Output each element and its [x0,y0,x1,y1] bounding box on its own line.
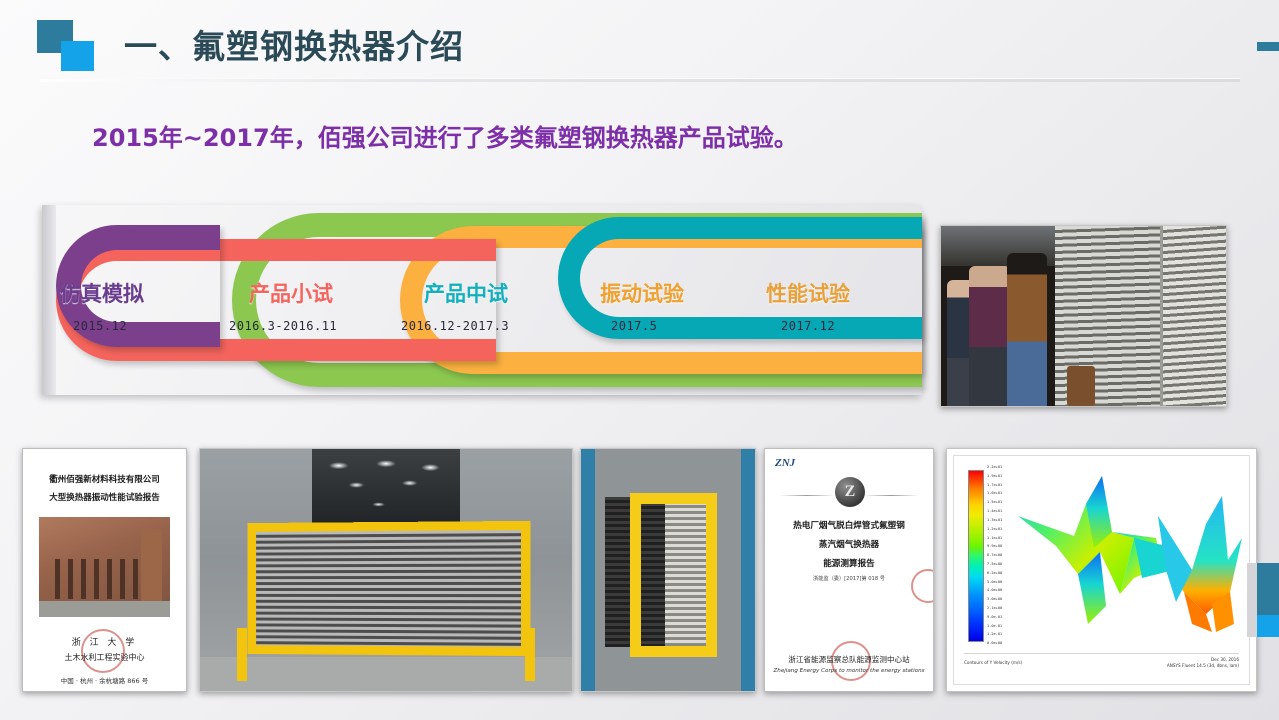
lab-rig-leg-right [525,628,535,681]
page-title: 一、氟塑钢换热器介绍 [124,20,464,68]
timeline-stage-label-2: 产品小试 [249,278,333,308]
vibration-test-report-cover: 衢州佰强新材料科技有限公司 大型换热器振动性能试验报告 浙 江 大 学 土木水利… [22,448,187,692]
header-right-tick-icon [1257,42,1279,51]
edge-decoration-blue [1257,615,1279,637]
cover1-arches [47,559,144,599]
slide: 一、氟塑钢换热器介绍 2015年~2017年，佰强公司进行了多类氟塑钢换热器产品… [0,0,1279,720]
cover1-org2: 土木水利工程实验中心 [23,652,186,663]
header-divider [40,78,1240,82]
cover1-address: 中国 · 杭州 · 余杭塘路 866 号 [23,675,186,685]
cover1-line1: 衢州佰强新材料科技有限公司 [23,473,186,485]
timeline-stage-label-1: 仿真模拟 [60,278,144,308]
cfd-caption-meta: Dec 30, 2016 ANSYS Fluent 14.5 (3d, dbns… [1167,657,1239,670]
photo-heat-exchanger-second-panel [1160,225,1226,407]
znj-brand-logo: ZNJ [775,457,795,469]
timeline-stage-label-4: 振动试验 [600,278,684,308]
edge-decoration-gray [1247,563,1257,637]
header-square-bright-icon [61,41,94,71]
cover1-building-photo [39,517,170,617]
heat-exchanger-test-rig-side-photo [580,448,756,692]
znj-medal-icon: Z [835,477,865,507]
photo-person-3 [1007,253,1047,406]
cover2-line1: 热电厂烟气脱白焊管式氟塑钢 [765,519,933,531]
cover1-line2: 大型换热器振动性能试验报告 [23,491,186,503]
cfd-caption: Contours of Y Velocity (m/s) Dec 30, 201… [964,653,1239,678]
photo-person-2 [969,266,1011,406]
heat-exchanger-test-rig-lab-photo [199,448,573,692]
side-yellow-frame [630,493,717,658]
cover1-road [39,601,170,617]
cfd-plot-area: 2.2e+01 1.9e+01 1.7e+01 1.6e+01 1.5e+01 … [953,455,1250,685]
cover2-footer-en: Zhejiang Energy Corps to monitor the ene… [765,668,933,674]
cover2-footer-cn: 浙江省能源监察总队能源监测中心站 [765,654,933,665]
cover2-line2: 蒸汽烟气换热器 [765,538,933,550]
cover2-flourish-left [779,495,835,496]
photo-barrel [1067,366,1095,406]
cover1-tower [141,529,162,609]
cfd-caption-title: Contours of Y Velocity (m/s) [964,660,1022,665]
cfd-colorbar [968,470,984,642]
heat-exchanger-inspection-photo [940,225,1227,407]
cfd-velocity-contour-plot: 2.2e+01 1.9e+01 1.7e+01 1.6e+01 1.5e+01 … [946,448,1257,692]
cfd-contour-shapes [1016,474,1246,654]
subtitle-text: 2015年~2017年，佰强公司进行了多类氟塑钢换热器产品试验。 [92,118,798,153]
cover2-side-seal-icon [911,569,934,603]
cfd-solver: ANSYS Fluent 14.5 (3d, dbns, lam) [1167,663,1239,668]
cover1-org1: 浙 江 大 学 [23,635,186,648]
cover2-line3: 能源测算报告 [765,557,933,569]
timeline-stage-date-1: 2015.12 [73,319,127,333]
cfd-date: Dec 30, 2016 [1211,657,1239,662]
energy-measurement-report-cover: ZNJ Z 热电厂烟气脱白焊管式氟塑钢 蒸汽烟气换热器 能源测算报告 浙能监（委… [764,448,934,692]
timeline-stage-date-2: 2016.3-2016.11 [229,319,337,333]
edge-decoration-teal [1257,563,1279,615]
lab-floor [200,657,572,691]
timeline-stage-label-5: 性能试验 [766,278,850,308]
timeline-stage-date-4: 2017.5 [611,319,657,333]
cfd-tick: 2.2e+01 [987,466,1027,470]
cover2-code: 浙能监（委）[2017]第 018 号 [765,575,933,582]
timeline-stage-label-3: 产品中试 [424,278,508,308]
timeline-left-edge [42,205,56,395]
timeline-stage-date-5: 2017.12 [781,319,835,333]
cover2-flourish-right [863,495,919,496]
timeline-stage-date-3: 2016.12-2017.3 [401,319,509,333]
lab-yellow-frame-rig [247,520,530,655]
lab-rig-leg-left [237,628,247,681]
